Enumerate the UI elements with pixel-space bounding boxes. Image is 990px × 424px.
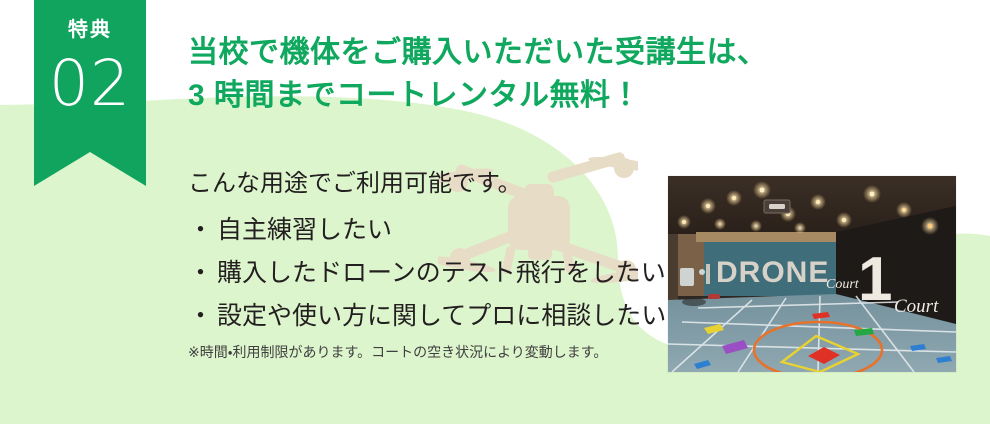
footnote-text: ※時間・利用制限があります。コートの空き状況により変動します。	[188, 343, 658, 361]
benefit-ribbon-badge: 特典 02	[34, 0, 146, 186]
list-item: ・購入したドローンのテスト飛行をしたい	[188, 257, 658, 289]
benefit-promo-banner: 特典 02 当校で機体をご購入いただいた受講生は、 3 時間までコートレンタル無…	[0, 0, 990, 424]
list-item: ・設定や使い方に関してプロに相談したい	[188, 300, 658, 332]
bullet-dot-icon: ・	[188, 257, 213, 289]
lead-text: こんな用途でご利用可能です。	[188, 168, 658, 200]
indoor-drone-court-photo: DRONE 1 Court Court	[668, 176, 956, 372]
headline-line-1: 当校で機体をご購入いただいた受講生は、	[188, 32, 768, 75]
list-item-label: 購入したドローンのテスト飛行をしたい	[217, 259, 666, 287]
list-item-label: 自主練習したい	[217, 216, 392, 244]
list-item-label: 設定や使い方に関してプロに相談したい	[217, 302, 666, 330]
list-item: ・自主練習したい	[188, 214, 658, 246]
svg-text:Court: Court	[826, 277, 860, 292]
ribbon-number-label: 02	[34, 52, 146, 115]
svg-text:Court: Court	[894, 296, 939, 317]
bullet-dot-icon: ・	[188, 300, 213, 332]
headline: 当校で機体をご購入いただいた受講生は、 3 時間までコートレンタル無料！	[188, 32, 768, 117]
headline-line-2: 3 時間までコートレンタル無料！	[188, 75, 768, 118]
body-copy: こんな用途でご利用可能です。 ・自主練習したい ・購入したドローンのテスト飛行を…	[188, 168, 658, 362]
bullet-dot-icon: ・	[188, 214, 213, 246]
use-case-list: ・自主練習したい ・購入したドローンのテスト飛行をしたい ・設定や使い方に関して…	[188, 214, 658, 332]
svg-text:DRONE: DRONE	[716, 256, 829, 289]
ribbon-kicker-label: 特典	[34, 20, 146, 40]
